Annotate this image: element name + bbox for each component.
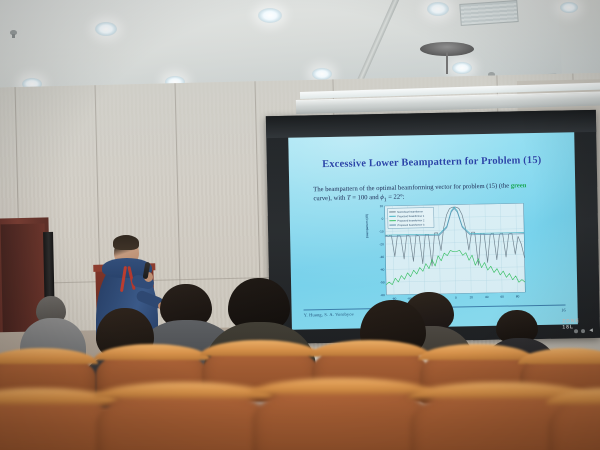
slide-body-line2-c: = 22°: <box>386 194 404 201</box>
beampattern-chart: -80-60-40-20020406080100-10-20-30-40-50-… <box>368 199 530 306</box>
auditorium-seat-foreground[interactable] <box>96 386 272 450</box>
ceiling-downlight <box>560 2 578 13</box>
slide-body-line1: The beampattern of the optimal beamformi… <box>313 182 511 193</box>
svg-text:-30: -30 <box>380 255 385 259</box>
speaker-stem <box>446 52 448 74</box>
svg-text:0: 0 <box>455 296 457 300</box>
svg-text:Proposed beamformer 1: Proposed beamformer 1 <box>397 215 425 219</box>
svg-text:-20: -20 <box>379 242 384 246</box>
svg-text:80: 80 <box>516 294 520 298</box>
slide-body-line2-b: = 100 and <box>351 194 381 202</box>
slide-title: Excessive Lower Beampattern for Problem … <box>289 154 575 170</box>
svg-text:-40: -40 <box>380 268 385 272</box>
svg-text:0: 0 <box>382 217 384 221</box>
ceiling-downlight <box>452 62 472 74</box>
svg-text:-50: -50 <box>380 280 385 284</box>
display-button[interactable] <box>581 329 585 333</box>
slide-body-line2-a: curve), with <box>313 195 347 203</box>
ceiling-sensor <box>10 30 17 35</box>
svg-text:Proposed beamformer 3: Proposed beamformer 3 <box>397 224 425 228</box>
display-brand-label: ZDNE 18L <box>562 318 580 330</box>
slide-green-keyword: green <box>511 182 527 189</box>
ceiling-downlight <box>95 22 117 36</box>
display-nav-arrow-icon[interactable]: ◄ <box>588 328 594 334</box>
beampattern-plot: -80-60-40-20020406080100-10-20-30-40-50-… <box>368 199 530 306</box>
auditorium-seat-foreground[interactable] <box>252 382 432 450</box>
chart-y-axis-label: Beampattern (dB) <box>365 214 369 238</box>
svg-text:60: 60 <box>500 295 504 299</box>
slide-page-number: 16 <box>561 307 565 312</box>
svg-text:Proposed beamformer 2: Proposed beamformer 2 <box>397 219 425 223</box>
presenter-hair <box>113 235 139 250</box>
svg-text:10: 10 <box>380 204 384 208</box>
display-control-buttons[interactable]: ZDNE 18L ◄ <box>574 328 594 334</box>
ceiling-downlight <box>258 8 282 23</box>
svg-text:-10: -10 <box>379 229 384 233</box>
auditorium-seat-foreground[interactable] <box>548 392 600 450</box>
ceiling-downlight <box>427 2 449 16</box>
ceiling-air-vent <box>459 0 518 26</box>
lecture-hall-photo: Excessive Lower Beampattern for Problem … <box>0 0 600 450</box>
svg-text:20: 20 <box>470 295 474 299</box>
svg-text:-60: -60 <box>380 293 385 297</box>
ceiling-downlight <box>312 68 332 80</box>
svg-text:Nonrobust beamformer: Nonrobust beamformer <box>397 210 423 213</box>
svg-text:40: 40 <box>485 295 489 299</box>
